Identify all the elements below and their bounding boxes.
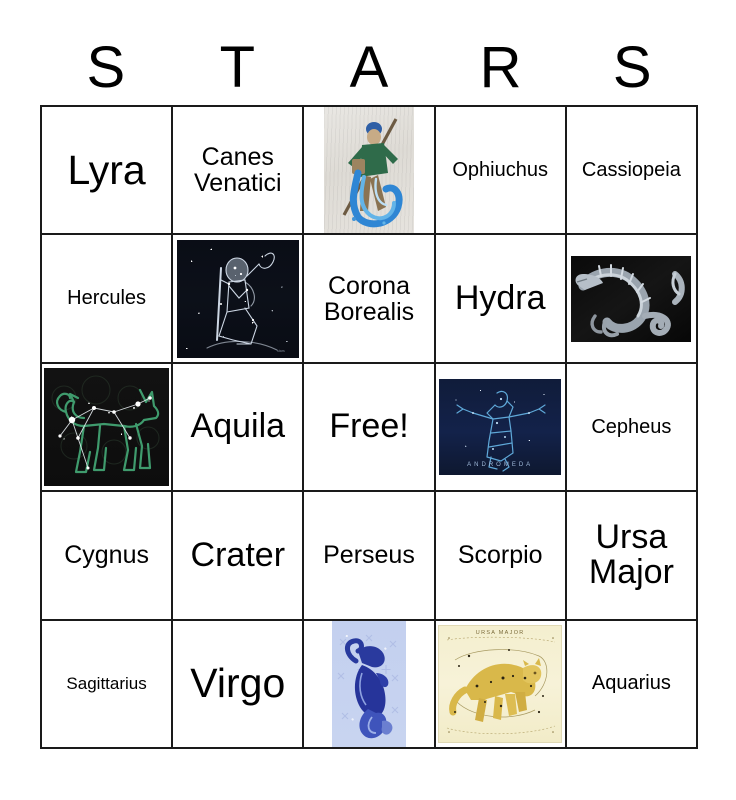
hercules-constellation-image: stars bbox=[175, 237, 300, 359]
vintage-chart-caption: URSA MAJOR bbox=[439, 630, 561, 636]
bingo-cell-r2c5[interactable] bbox=[567, 235, 698, 363]
bingo-cell-label: Aquila bbox=[175, 409, 300, 444]
bingo-cell-r5c1[interactable]: Sagittarius bbox=[42, 621, 173, 749]
bingo-cell-label: Lyra bbox=[44, 149, 169, 192]
free-space-label: Free! bbox=[306, 409, 431, 444]
bingo-cell-r1c5[interactable]: Cassiopeia bbox=[567, 107, 698, 235]
bingo-cell-r1c1[interactable]: Lyra bbox=[42, 107, 173, 235]
bingo-cell-label: Sagittarius bbox=[44, 675, 169, 693]
bingo-cell-r4c2[interactable]: Crater bbox=[173, 492, 304, 620]
bingo-cell-free-space[interactable]: Free! bbox=[304, 364, 435, 492]
bingo-cell-r4c5[interactable]: Ursa Major bbox=[567, 492, 698, 620]
bingo-cell-label: Canes Venatici bbox=[175, 144, 300, 196]
bingo-cell-label: Aquarius bbox=[569, 673, 694, 694]
bingo-cell-r4c4[interactable]: Scorpio bbox=[436, 492, 567, 620]
bingo-cell-label: Ophiuchus bbox=[438, 160, 563, 181]
bingo-grid: Lyra Canes Venatici bbox=[40, 105, 698, 749]
bingo-cell-r1c4[interactable]: Ophiuchus bbox=[436, 107, 567, 235]
bingo-cell-r5c3[interactable] bbox=[304, 621, 435, 749]
bingo-cell-r2c2[interactable]: stars bbox=[173, 235, 304, 363]
bingo-cell-r3c4[interactable]: ANDROMEDA bbox=[436, 364, 567, 492]
bingo-cell-r1c2[interactable]: Canes Venatici bbox=[173, 107, 304, 235]
bingo-header-row: S T A R S bbox=[40, 32, 698, 104]
header-letter-1: S bbox=[40, 32, 172, 104]
bingo-cell-label: Cygnus bbox=[44, 542, 169, 568]
bingo-cell-label: Hydra bbox=[438, 281, 563, 316]
bingo-cell-r5c2[interactable]: Virgo bbox=[173, 621, 304, 749]
bingo-cell-label: Virgo bbox=[175, 662, 300, 705]
canis-major-dog-constellation-image bbox=[44, 366, 169, 488]
bingo-cell-r2c3[interactable]: Corona Borealis bbox=[304, 235, 435, 363]
bingo-cell-label: Perseus bbox=[306, 542, 431, 568]
bingo-card: S T A R S Lyra Canes Venatici bbox=[0, 0, 736, 800]
bingo-cell-r3c2[interactable]: Aquila bbox=[173, 364, 304, 492]
bingo-cell-label: Cassiopeia bbox=[569, 160, 694, 181]
header-letter-3: A bbox=[303, 32, 435, 104]
bingo-cell-r5c5[interactable]: Aquarius bbox=[567, 621, 698, 749]
bingo-cell-label: Scorpio bbox=[438, 542, 563, 568]
bingo-cell-label: Corona Borealis bbox=[306, 273, 431, 325]
hydra-sea-serpent-image bbox=[569, 237, 694, 359]
andromeda-constellation-image: ANDROMEDA bbox=[438, 366, 563, 488]
bingo-cell-label: Hercules bbox=[44, 288, 169, 309]
bingo-cell-r2c4[interactable]: Hydra bbox=[436, 235, 567, 363]
bingo-cell-r3c1[interactable] bbox=[42, 364, 173, 492]
bingo-cell-r4c1[interactable]: Cygnus bbox=[42, 492, 173, 620]
water-bearer-aquarius-image bbox=[306, 109, 431, 231]
bingo-cell-r5c4[interactable]: URSA MAJOR bbox=[436, 621, 567, 749]
capricorn-sea-goat-image bbox=[306, 623, 431, 745]
bingo-cell-r4c3[interactable]: Perseus bbox=[304, 492, 435, 620]
bingo-cell-label: Ursa Major bbox=[569, 520, 694, 591]
header-letter-4: R bbox=[435, 32, 567, 104]
bingo-cell-label: Cepheus bbox=[569, 417, 694, 438]
bingo-cell-label: Crater bbox=[175, 538, 300, 573]
ursa-major-vintage-chart-image: URSA MAJOR bbox=[438, 623, 563, 745]
andromeda-image-caption: ANDROMEDA bbox=[439, 462, 561, 468]
bingo-cell-r1c3[interactable] bbox=[304, 107, 435, 235]
svg-text:stars: stars bbox=[277, 349, 285, 353]
bingo-cell-r2c1[interactable]: Hercules bbox=[42, 235, 173, 363]
header-letter-2: T bbox=[172, 32, 304, 104]
bingo-cell-r3c5[interactable]: Cepheus bbox=[567, 364, 698, 492]
header-letter-5: S bbox=[566, 32, 698, 104]
